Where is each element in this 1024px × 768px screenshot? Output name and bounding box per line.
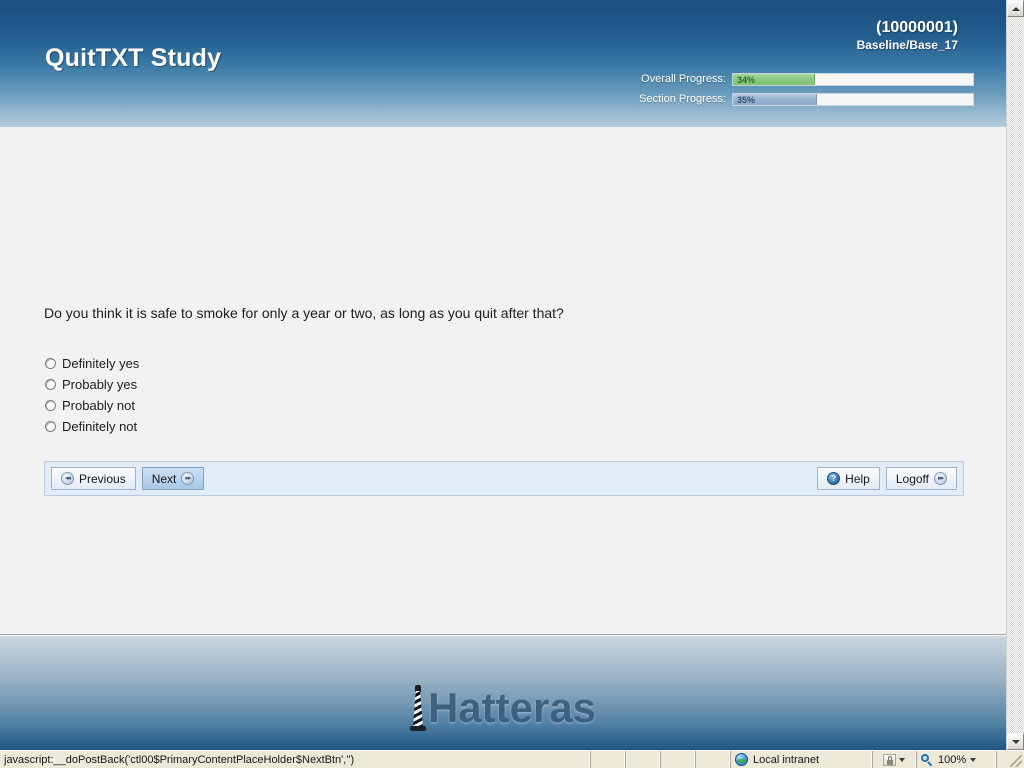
nav-left-group: ◂◂ Previous Next ▸▸	[51, 467, 204, 490]
help-button[interactable]: ? Help	[817, 467, 880, 490]
help-button-label: Help	[845, 472, 870, 486]
nav-right-group: ? Help Logoff ▸▸	[817, 467, 957, 490]
radio-button-icon[interactable]	[45, 400, 56, 411]
section-progress-bar: 35%	[732, 93, 974, 106]
next-button[interactable]: Next ▸▸	[142, 467, 205, 490]
magnifier-icon	[921, 754, 933, 766]
overall-progress-row: Overall Progress: 34%	[614, 72, 974, 86]
lighthouse-lamp	[415, 685, 421, 692]
page-header: QuitTXT Study (10000001) Baseline/Base_1…	[0, 0, 1006, 127]
option-label: Probably yes	[62, 377, 137, 392]
question-text: Do you think it is safe to smoke for onl…	[44, 305, 564, 321]
brand-name: Hatteras	[428, 685, 596, 731]
status-pane-4	[695, 751, 730, 768]
page-viewport: QuitTXT Study (10000001) Baseline/Base_1…	[0, 0, 1006, 750]
option-probably-yes[interactable]: Probably yes	[45, 374, 139, 395]
section-progress-value: 35%	[737, 94, 755, 106]
overall-progress-value: 34%	[737, 74, 755, 86]
browser-window: QuitTXT Study (10000001) Baseline/Base_1…	[0, 0, 1024, 768]
status-pane-1	[590, 751, 625, 768]
progress-area: Overall Progress: 34% Section Progress: …	[614, 72, 974, 112]
overall-progress-bar: 34%	[732, 73, 974, 86]
section-progress-row: Section Progress: 35%	[614, 92, 974, 106]
brand-logo: Hatteras	[410, 683, 596, 731]
section-path: Baseline/Base_17	[857, 37, 958, 53]
overall-progress-label: Overall Progress:	[614, 73, 732, 85]
status-pane-3	[660, 751, 695, 768]
radio-button-icon[interactable]	[45, 379, 56, 390]
answer-options-group: Definitely yes Probably yes Probably not…	[45, 353, 139, 437]
subject-id: (10000001)	[857, 18, 958, 37]
option-definitely-yes[interactable]: Definitely yes	[45, 353, 139, 374]
chevron-down-icon[interactable]	[899, 758, 905, 762]
logoff-button[interactable]: Logoff ▸▸	[886, 467, 957, 490]
zoom-level-label: 100%	[938, 754, 966, 766]
chevron-up-icon	[1012, 7, 1020, 11]
radio-button-icon[interactable]	[45, 358, 56, 369]
next-button-label: Next	[152, 472, 177, 486]
page-title: QuitTXT Study	[45, 44, 221, 73]
lighthouse-tower	[413, 691, 423, 727]
option-probably-not[interactable]: Probably not	[45, 395, 139, 416]
page-footer: Hatteras	[0, 634, 1006, 750]
option-label: Definitely not	[62, 419, 137, 434]
chevron-down-icon	[1012, 740, 1020, 744]
scroll-up-button[interactable]	[1007, 0, 1024, 17]
lighthouse-icon	[410, 683, 426, 731]
section-progress-label: Section Progress:	[614, 93, 732, 105]
previous-arrow-icon: ◂◂	[61, 472, 74, 485]
logoff-button-label: Logoff	[896, 472, 929, 486]
brand-area: Hatteras	[0, 683, 1006, 735]
security-zone-pane[interactable]: Local intranet	[730, 751, 872, 768]
help-icon: ?	[827, 472, 840, 485]
vertical-scrollbar[interactable]	[1006, 0, 1024, 750]
lock-icon	[883, 754, 896, 766]
previous-button[interactable]: ◂◂ Previous	[51, 467, 136, 490]
zoom-pane[interactable]: 100%	[916, 751, 996, 768]
protected-mode-pane[interactable]	[872, 751, 916, 768]
option-label: Probably not	[62, 398, 135, 413]
navigation-toolbar: ◂◂ Previous Next ▸▸ ? Help Logoff	[44, 461, 964, 496]
status-pane-2	[625, 751, 660, 768]
main-content: Do you think it is safe to smoke for onl…	[0, 127, 1006, 634]
lighthouse-base	[410, 726, 426, 731]
status-text: javascript:__doPostBack('ctl00$PrimaryCo…	[0, 751, 590, 768]
security-zone-label: Local intranet	[753, 754, 819, 766]
previous-button-label: Previous	[79, 472, 126, 486]
globe-icon	[735, 753, 748, 766]
option-definitely-not[interactable]: Definitely not	[45, 416, 139, 437]
status-bar: javascript:__doPostBack('ctl00$PrimaryCo…	[0, 750, 1024, 768]
scroll-down-button[interactable]	[1007, 733, 1024, 750]
radio-button-icon[interactable]	[45, 421, 56, 432]
next-arrow-icon: ▸▸	[181, 472, 194, 485]
option-label: Definitely yes	[62, 356, 139, 371]
resize-grip[interactable]	[996, 751, 1024, 768]
subject-info: (10000001) Baseline/Base_17	[857, 18, 958, 53]
chevron-down-icon[interactable]	[970, 758, 976, 762]
logoff-arrow-icon: ▸▸	[934, 472, 947, 485]
